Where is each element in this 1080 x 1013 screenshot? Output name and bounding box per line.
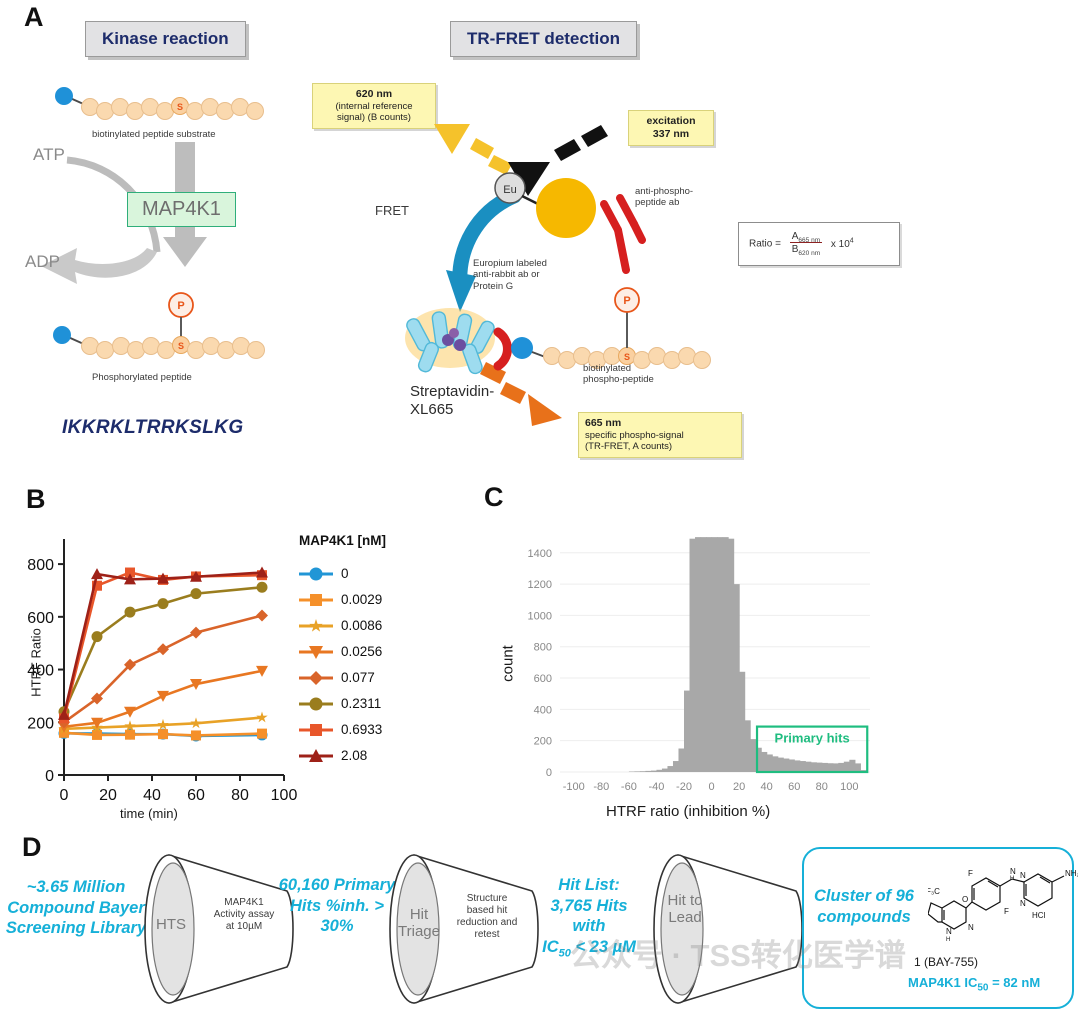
- europium-caption-l3: Protein G: [473, 281, 513, 292]
- structure-label-n1: N: [1020, 871, 1026, 880]
- legend-label: 0: [341, 566, 349, 581]
- compound-ic50-label: MAP4K1 IC50 = 82 nM: [908, 975, 1040, 994]
- ratio-formula-box: Ratio = A665 nm B620 nm x 104: [738, 222, 900, 266]
- svg-text:-100: -100: [563, 781, 585, 793]
- svg-text:800: 800: [27, 557, 54, 574]
- panel-c-xlabel: HTRF ratio (inhibition %): [606, 803, 770, 820]
- primary-hits-annotation: Primary hits: [775, 731, 850, 746]
- funnel-hts-note: MAP4K1 Activity assay at 10µM: [210, 897, 278, 933]
- structure-label-n-pyridine: N: [968, 923, 974, 932]
- legend-item[interactable]: 0.0029: [299, 586, 382, 612]
- substrate-caption: biotinylated peptide substrate: [92, 129, 216, 140]
- svg-text:H: H: [946, 937, 950, 943]
- formula-factor: x 104: [831, 239, 854, 250]
- panel-b-letter: B: [26, 484, 46, 515]
- legend-label: 0.6933: [341, 722, 382, 737]
- svg-text:40: 40: [143, 787, 161, 804]
- structure-label-f2: F: [1004, 907, 1009, 916]
- panel-d-letter: D: [22, 832, 42, 863]
- legend-label: 0.077: [341, 670, 375, 685]
- legend-item[interactable]: 0.077: [299, 664, 382, 690]
- legend-item[interactable]: 0: [299, 560, 382, 586]
- peptide-sequence: IKKRKLTRRKSLKG: [62, 417, 244, 439]
- legend-symbol: [299, 748, 333, 762]
- antibody-caption-l1: anti-phospho-: [635, 186, 693, 197]
- watermark: 公众号 · TSS转化医学谱: [570, 930, 906, 975]
- streptavidin-l1: Streptavidin-: [410, 383, 494, 400]
- adp-label: ADP: [25, 252, 60, 272]
- svg-text:80: 80: [231, 787, 249, 804]
- tr-fret-detection-title: TR-FRET detection: [450, 21, 637, 57]
- legend-symbol: [299, 722, 333, 736]
- structure-label-hcl: HCl: [1032, 911, 1046, 920]
- structure-label-cf3: F₃C: [928, 887, 940, 896]
- panel-c-letter: C: [484, 482, 504, 513]
- svg-text:-20: -20: [676, 781, 692, 793]
- panel-c-ylabel: count: [500, 619, 517, 709]
- legend-label: 0.0256: [341, 644, 382, 659]
- structure-label-f1: F: [968, 869, 973, 878]
- structure-label-nh2: NH₂: [1065, 869, 1078, 878]
- legend-item[interactable]: 0.6933: [299, 716, 382, 742]
- panel-b-line-chart: 0200400600800020406080100: [8, 525, 298, 815]
- svg-text:200: 200: [534, 736, 552, 748]
- panel-b-legend: 00.00290.00860.02560.0770.23110.69332.08: [299, 560, 382, 768]
- map4k1-enzyme-box: MAP4K1: [127, 192, 236, 227]
- antibody-caption: anti-phospho- peptide ab: [635, 186, 693, 209]
- svg-text:0: 0: [60, 787, 69, 804]
- svg-text:100: 100: [840, 781, 858, 793]
- svg-text:0: 0: [708, 781, 714, 793]
- legend-item[interactable]: 2.08: [299, 742, 382, 768]
- hit-list-line1: Hit List:: [558, 876, 619, 894]
- svg-text:80: 80: [816, 781, 828, 793]
- fret-label: FRET: [375, 203, 409, 218]
- legend-label: 0.0029: [341, 592, 382, 607]
- legend-symbol: [299, 696, 333, 710]
- funnel-hts-label: HTS: [148, 917, 194, 934]
- panel-c-histogram: 0200400600800100012001400-100-80-60-40-2…: [498, 518, 880, 818]
- svg-text:S: S: [178, 341, 184, 351]
- hit-list-line2: 3,765 Hits: [550, 897, 627, 915]
- panel-b-xlabel: time (min): [120, 806, 178, 821]
- panel-b-ylabel: HTRF Ratio: [29, 603, 44, 723]
- streptavidin-caption: Streptavidin- XL665: [410, 383, 494, 419]
- svg-text:-40: -40: [648, 781, 664, 793]
- legend-label: 0.0086: [341, 618, 382, 633]
- compound-name-label: 1 (BAY-755): [914, 955, 978, 969]
- svg-text:S: S: [177, 102, 183, 112]
- svg-text:800: 800: [534, 642, 552, 654]
- formula-denominator: B620 nm: [792, 244, 820, 255]
- legend-label: 0.2311: [341, 696, 381, 711]
- svg-text:-60: -60: [621, 781, 637, 793]
- structure-label-nh-ring: N: [946, 927, 952, 936]
- formula-numerator: A665 nm: [790, 231, 822, 243]
- europium-caption-l1: Europium labeled: [473, 258, 547, 269]
- legend-item[interactable]: 0.0086: [299, 612, 382, 638]
- streptavidin-l2: XL665: [410, 401, 453, 418]
- funnel-hit-triage-label: Hit Triage: [388, 907, 450, 941]
- biotin-phospho-l1: biotinylated: [583, 363, 631, 374]
- svg-text:20: 20: [733, 781, 745, 793]
- legend-symbol: [299, 670, 333, 684]
- svg-text:600: 600: [534, 673, 552, 685]
- svg-text:400: 400: [534, 704, 552, 716]
- biotinylated-peptide-substrate-graphic: S: [50, 82, 280, 127]
- bay-755-structure-graphic: F F F₃C O N H N N NH₂ HCl N H N: [928, 852, 1078, 962]
- svg-text:H: H: [1010, 876, 1014, 882]
- box-620nm-title: 620 nm: [356, 88, 392, 100]
- biotin-phospho-caption: biotinylated phospho-peptide: [583, 363, 654, 386]
- legend-symbol: [299, 644, 333, 658]
- panel-a-letter: A: [24, 2, 44, 33]
- structure-label-o: O: [962, 895, 968, 904]
- svg-text:P: P: [177, 300, 184, 312]
- svg-text:Eu: Eu: [503, 184, 516, 196]
- svg-text:20: 20: [99, 787, 117, 804]
- legend-symbol: [299, 618, 333, 632]
- phosphorylated-peptide-graphic: P S: [48, 288, 278, 368]
- svg-text:S: S: [624, 352, 630, 362]
- panel-b-legend-title: MAP4K1 [nM]: [299, 533, 386, 548]
- svg-text:60: 60: [788, 781, 800, 793]
- antibody-caption-l2: peptide ab: [635, 197, 679, 208]
- legend-item[interactable]: 0.2311: [299, 690, 382, 716]
- svg-text:60: 60: [187, 787, 205, 804]
- cluster-label: Cluster of 96 compounds: [812, 886, 916, 927]
- formula-lhs: Ratio =: [749, 239, 781, 250]
- europium-caption: Europium labeled anti-rabbit ab or Prote…: [473, 258, 547, 292]
- kinase-reaction-title: Kinase reaction: [85, 21, 246, 57]
- stage-primary-hits-label: 60,160 Primary Hits %inh. > 30%: [278, 875, 396, 937]
- legend-symbol: [299, 592, 333, 606]
- legend-item[interactable]: 0.0256: [299, 638, 382, 664]
- structure-label-n2: N: [1020, 899, 1026, 908]
- stage-library-label: ~3.65 Million Compound Bayer Screening L…: [2, 877, 150, 939]
- structure-label-nh: N: [1010, 867, 1016, 876]
- svg-text:1400: 1400: [528, 548, 552, 560]
- svg-text:40: 40: [761, 781, 773, 793]
- svg-text:-80: -80: [593, 781, 609, 793]
- svg-text:0: 0: [546, 767, 552, 779]
- atp-label: ATP: [33, 145, 65, 165]
- svg-text:0: 0: [45, 768, 54, 785]
- phospho-peptide-caption: Phosphorylated peptide: [92, 372, 192, 383]
- svg-text:1200: 1200: [528, 579, 552, 591]
- funnel-hit-triage-note: Structure based hit reduction and retest: [454, 893, 520, 941]
- funnel-hit-to-lead-graphic: [646, 845, 811, 1013]
- legend-symbol: [299, 566, 333, 580]
- svg-text:100: 100: [271, 787, 298, 804]
- svg-text:1000: 1000: [528, 610, 552, 622]
- europium-caption-l2: anti-rabbit ab or: [473, 269, 540, 280]
- legend-label: 2.08: [341, 748, 367, 763]
- biotin-phospho-l2: phospho-peptide: [583, 374, 654, 385]
- svg-text:P: P: [623, 295, 630, 307]
- funnel-hit-to-lead-label: Hit to Lead: [655, 893, 715, 927]
